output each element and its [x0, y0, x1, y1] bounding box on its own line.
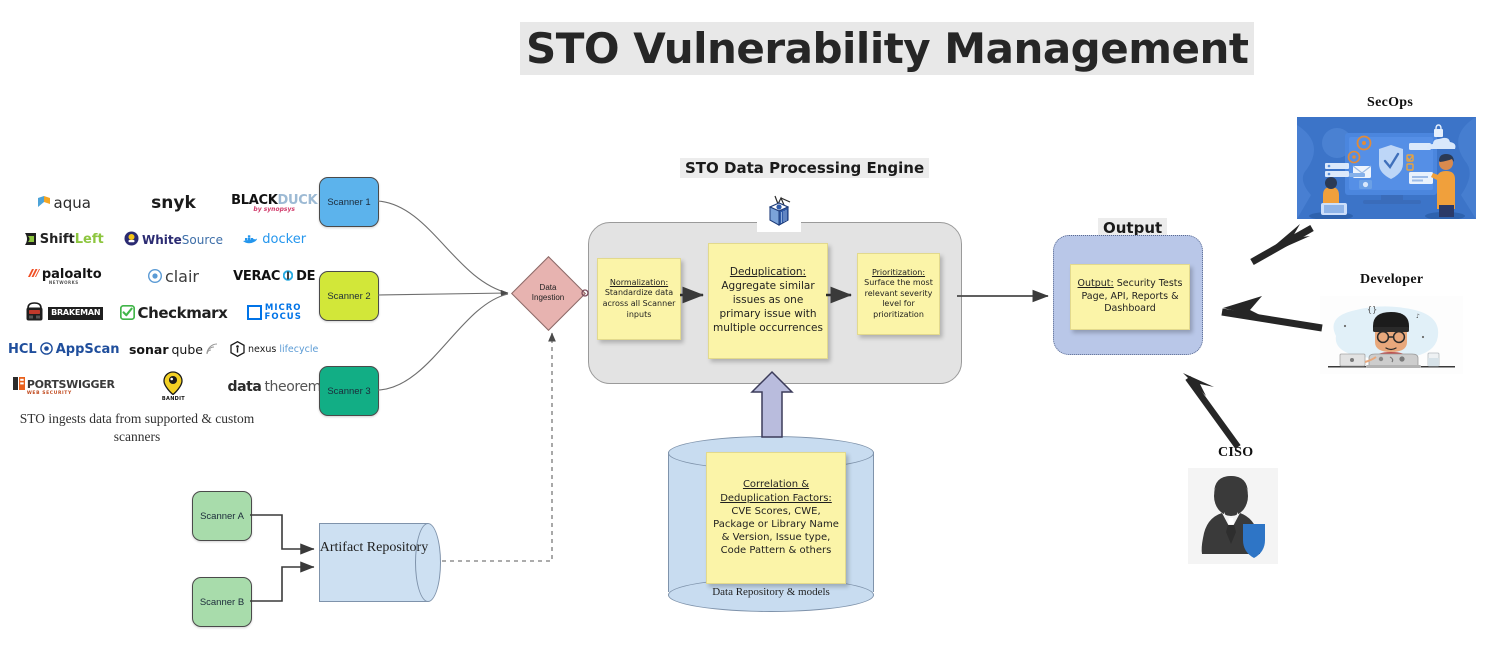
logo-bandit: BANDIT — [162, 371, 185, 402]
note-normalization: Normalization: Standardize data across a… — [597, 258, 681, 340]
logo-hcl-appscan: HCL AppScan — [8, 342, 120, 357]
logo-paloalto: paloalto NETWORKS — [26, 268, 102, 285]
logo-blackduck-sub: by synopsys — [253, 207, 295, 213]
scanner-3-node[interactable]: Scanner 3 — [319, 366, 379, 416]
data-repository-label: Data Repository & models — [668, 585, 874, 599]
note-deduplication-body: Aggregate similar issues as one primary … — [712, 280, 824, 335]
scanner-a-label: Scanner A — [200, 511, 244, 522]
logo-sonar-label: sonar — [129, 344, 169, 357]
engine-section-title: STO Data Processing Engine — [680, 158, 929, 178]
edge-scannerA-to-artifact — [250, 515, 314, 549]
scanner-1-label: Scanner 1 — [327, 197, 370, 208]
note-normalization-body: Standardize data across all Scanner inpu… — [600, 288, 678, 320]
edge-secops-to-output — [1252, 228, 1312, 262]
shiftleft-logo-icon — [24, 232, 37, 248]
artifact-repository-cylinder[interactable] — [319, 523, 439, 600]
ingestion-label-line1: Data — [540, 283, 557, 293]
logo-shiftleft-label2: Left — [75, 232, 104, 247]
logo-docker-label: docker — [262, 233, 306, 246]
logo-aqua-label: aqua — [54, 196, 91, 211]
note-prioritization: Prioritization: Surface the most relevan… — [857, 253, 940, 335]
artifact-cylinder-body — [319, 523, 428, 602]
paloalto-logo-icon — [26, 268, 40, 281]
logo-clair: clair — [148, 269, 199, 285]
logo-snyk-label: snyk — [151, 195, 196, 212]
logo-snyk: snyk — [151, 195, 196, 212]
arrowhead-ciso — [1183, 373, 1214, 396]
edge-scanner2-to-ingestion — [378, 293, 508, 295]
supported-scanner-logos: aqua snyk BLACKDUCK by synopsys ShiftLef… — [8, 185, 276, 405]
arrowhead-developer — [1223, 296, 1266, 318]
ingestion-label-group: Data Ingestion — [512, 257, 584, 329]
note-normalization-heading: Normalization: — [610, 278, 668, 289]
logo-checkmarx-label: Checkmarx — [138, 306, 228, 321]
processing-cube-icon — [757, 192, 801, 232]
note-output: Output: Security Tests Page, API, Report… — [1070, 264, 1190, 330]
logo-portswigger: PORTSWIGGER WEB SECURITY — [13, 377, 115, 397]
logo-lifecycle-label: lifecycle — [279, 345, 318, 355]
portswigger-logo-icon — [13, 377, 25, 392]
ciso-avatar — [1188, 468, 1278, 564]
aqua-logo-icon — [37, 195, 51, 211]
logo-docker: docker — [242, 233, 306, 247]
logo-black-duck: BLACKDUCK by synopsys — [231, 194, 317, 213]
sonarqube-waves-icon — [206, 343, 218, 357]
logo-paloalto-sub: NETWORKS — [49, 281, 79, 285]
logo-whitesource-label: White — [142, 233, 182, 247]
hcl-ring-icon — [40, 342, 53, 357]
ingestion-label-line2: Ingestion — [532, 293, 564, 303]
note-prioritization-heading: Prioritization: — [872, 268, 925, 279]
note-correlation-dedup-factors: Correlation & Deduplication Factors: CVE… — [706, 452, 846, 584]
scanner-b-label: Scanner B — [200, 597, 244, 608]
logo-micro-focus: MICRO FOCUS — [247, 304, 302, 322]
logo-appscan-label: AppScan — [56, 343, 120, 356]
scanner-2-label: Scanner 2 — [327, 291, 370, 302]
logo-nexus-lifecycle: nexus lifecycle — [230, 341, 318, 359]
edge-scanner1-to-ingestion — [378, 201, 508, 293]
logo-nexus-label: nexus — [248, 345, 276, 355]
clair-logo-icon — [148, 269, 162, 285]
scanner-2-node[interactable]: Scanner 2 — [319, 271, 379, 321]
edge-artifact-to-ingestion-dotted — [442, 333, 552, 561]
svg-text:♪: ♪ — [1416, 313, 1420, 320]
logo-whitesource: WhiteSource — [124, 231, 223, 248]
logo-brakeman: BRAKEMAN — [24, 302, 103, 325]
scanner-1-node[interactable]: Scanner 1 — [319, 177, 379, 227]
note-deduplication: Deduplication: Aggregate similar issues … — [708, 243, 828, 359]
nexus-logo-icon — [230, 341, 245, 359]
logo-portswigger-label: PORTSWIGGER — [27, 379, 115, 390]
logo-checkmarx: Checkmarx — [120, 305, 228, 322]
note-factors-heading: Correlation & Deduplication Factors: — [711, 478, 841, 504]
edge-scanner3-to-ingestion — [378, 294, 508, 390]
checkmarx-logo-icon — [120, 305, 135, 322]
microfocus-logo-icon — [247, 305, 262, 322]
logo-brakeman-label: BRAKEMAN — [48, 307, 103, 320]
artifact-repository-label: Artifact Repository — [319, 539, 429, 557]
logo-shiftleft: ShiftLeft — [24, 232, 104, 248]
secops-label: SecOps — [1367, 95, 1413, 111]
logo-sonarqube: sonar qube — [129, 343, 218, 357]
secops-illustration — [1297, 117, 1476, 219]
logo-shiftleft-label: Shift — [40, 232, 75, 247]
edge-scannerB-to-artifact — [250, 567, 314, 601]
brakeman-logo-icon — [24, 302, 45, 325]
logo-data-label: data — [227, 380, 261, 394]
logo-veracode-label: VERAC — [233, 270, 280, 283]
scanner-b-node[interactable]: Scanner B — [192, 577, 252, 627]
bandit-logo-icon — [162, 371, 184, 397]
logo-bandit-label: BANDIT — [162, 397, 185, 402]
logo-portswigger-sub: WEB SECURITY — [27, 392, 72, 397]
scanner-ingest-caption: STO ingests data from supported & custom… — [6, 410, 268, 446]
whitesource-logo-icon — [124, 231, 139, 248]
note-prioritization-body: Surface the most relevant severity level… — [860, 278, 937, 320]
logo-aqua: aqua — [37, 195, 91, 211]
logo-hcl-label: HCL — [8, 343, 37, 356]
logo-qube-label: qube — [172, 344, 203, 357]
page-title: STO Vulnerability Management — [520, 22, 1254, 75]
logo-veracode: VERAC DE — [233, 270, 315, 283]
logo-theorem-label: theorem — [264, 380, 320, 394]
arrowhead-secops — [1260, 224, 1310, 258]
data-ingestion-node[interactable]: Data Ingestion — [512, 257, 584, 329]
svg-text:{}: {} — [1367, 305, 1377, 314]
logo-clair-label: clair — [165, 269, 199, 285]
veracode-o-icon — [283, 270, 293, 283]
note-factors-body: CVE Scores, CWE, Package or Library Name… — [711, 505, 841, 558]
logo-data-theorem: data theorem — [227, 380, 320, 394]
note-deduplication-heading: Deduplication: — [730, 266, 806, 280]
diagram-canvas: STO Vulnerability Management aqua snyk B… — [0, 0, 1494, 664]
scanner-a-node[interactable]: Scanner A — [192, 491, 252, 541]
developer-label: Developer — [1360, 272, 1423, 288]
edge-ciso-to-output — [1188, 378, 1238, 447]
logo-veracode-label2: DE — [296, 270, 315, 283]
artifact-cylinder-cap — [415, 523, 441, 602]
note-output-heading: Output: — [1078, 278, 1114, 289]
logo-whitesource-label2: Source — [182, 233, 223, 247]
edge-developer-to-output — [1222, 312, 1322, 328]
logo-microfocus-label2: FOCUS — [265, 313, 302, 322]
ciso-label: CISO — [1218, 445, 1253, 461]
docker-logo-icon — [242, 233, 259, 247]
scanner-3-label: Scanner 3 — [327, 386, 370, 397]
developer-illustration: {} ♪ — [1320, 296, 1463, 374]
